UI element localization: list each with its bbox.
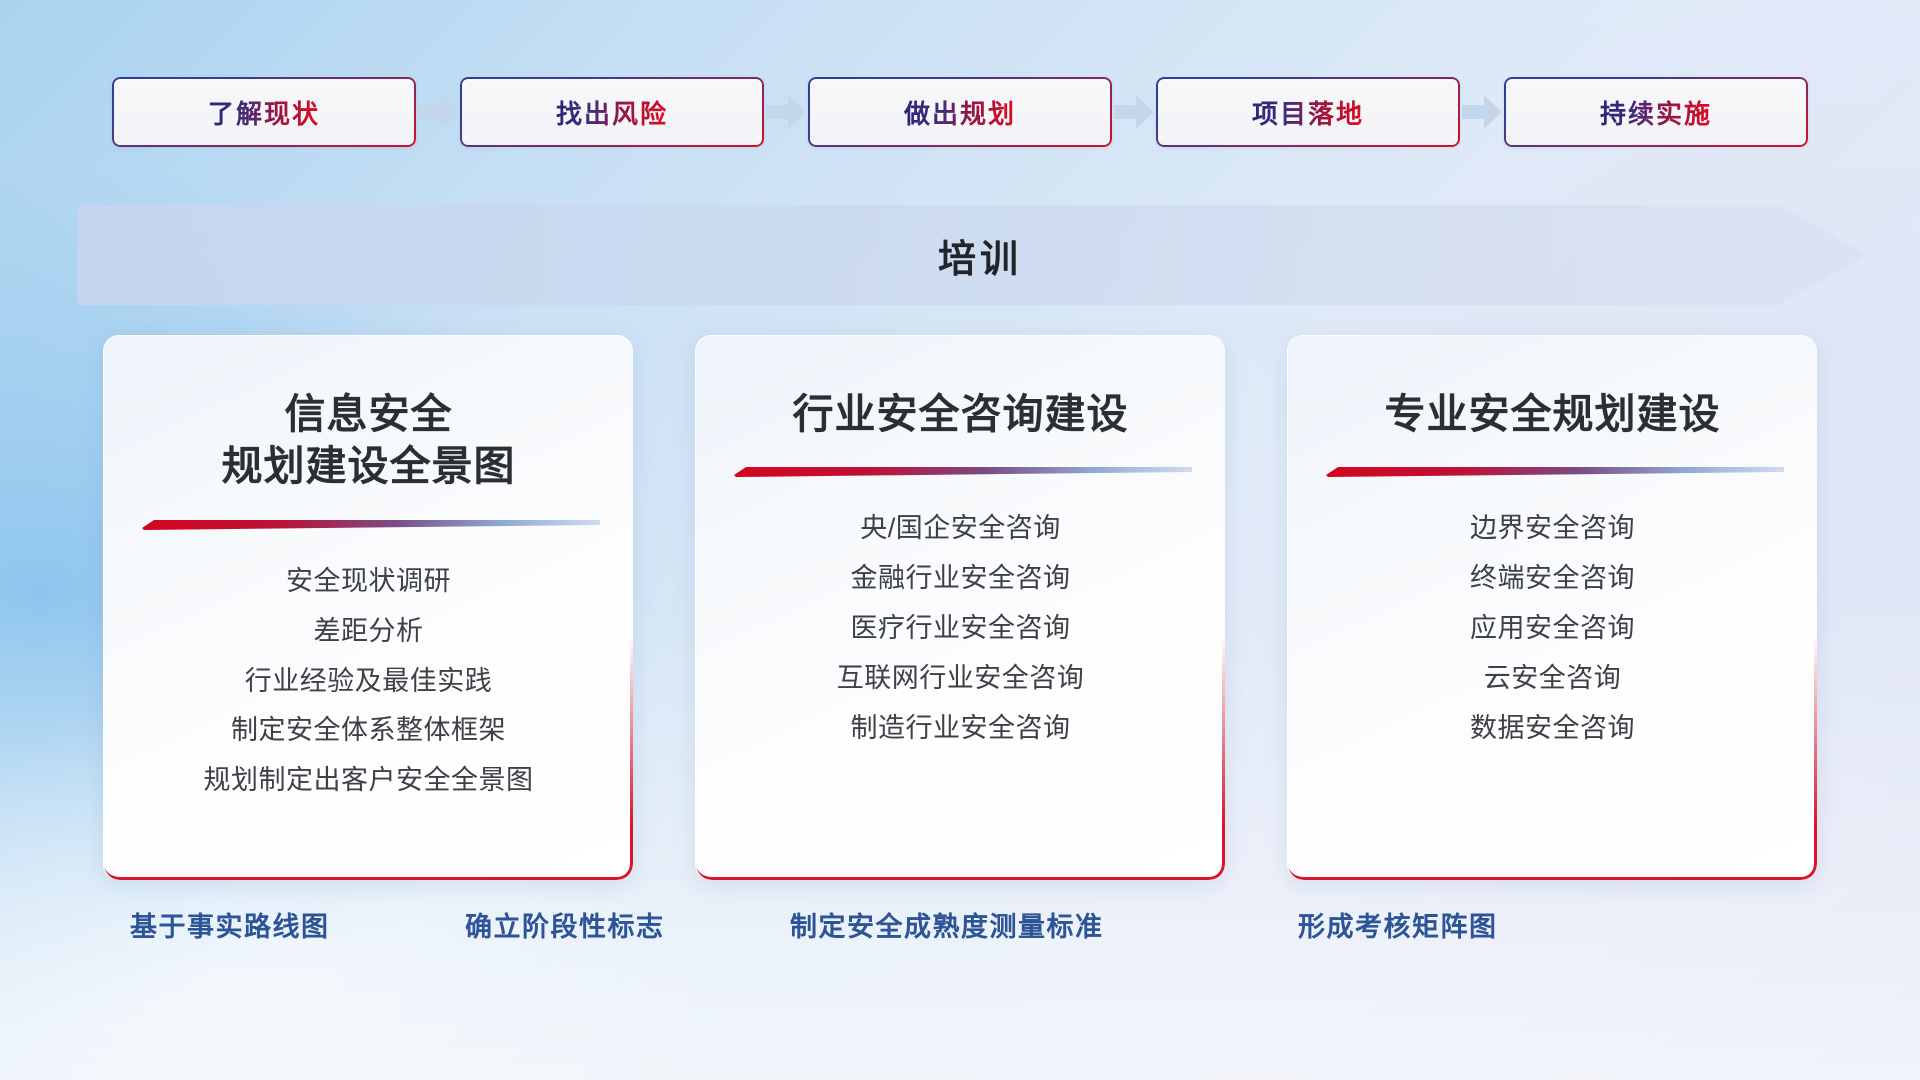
process-step-label: 持续实施 <box>1600 94 1712 131</box>
arrow-right-icon <box>1112 77 1156 147</box>
card-item-list: 安全现状调研 差距分析 行业经验及最佳实践 制定安全体系整体框架 规划制定出客户… <box>138 561 599 802</box>
caption-3: 制定安全成熟度测量标准 <box>790 905 1104 944</box>
process-step-1[interactable]: 了解现状 <box>112 77 416 147</box>
process-step-label: 找出风险 <box>556 94 668 131</box>
list-item: 应用安全咨询 <box>1470 608 1635 650</box>
service-card-3[interactable]: 专业安全规划建设 边界安全咨询 终端安全咨询 应用安全咨询 云安全 <box>1287 335 1817 880</box>
process-steps-row: 了解现状 找出风险 做出规划 项目落地 持续实施 <box>0 76 1920 148</box>
process-step-2[interactable]: 找出风险 <box>460 77 764 147</box>
process-step-label: 了解现状 <box>208 94 320 131</box>
list-item: 边界安全咨询 <box>1470 508 1635 550</box>
card-title: 专业安全规划建设 <box>1322 388 1783 440</box>
card-item-list: 边界安全咨询 终端安全咨询 应用安全咨询 云安全咨询 数据安全咨询 <box>1322 508 1783 749</box>
list-item: 央/国企安全咨询 <box>860 508 1061 550</box>
list-item: 互联网行业安全咨询 <box>837 658 1085 700</box>
card-title: 信息安全 规划建设全景图 <box>138 388 599 493</box>
list-item: 差距分析 <box>314 611 424 653</box>
card-divider <box>1322 464 1784 478</box>
list-item: 数据安全咨询 <box>1470 708 1635 750</box>
arrow-right-icon <box>1460 77 1504 147</box>
list-item: 终端安全咨询 <box>1470 558 1635 600</box>
arrow-right-icon <box>764 77 808 147</box>
caption-4: 形成考核矩阵图 <box>1298 905 1498 944</box>
list-item: 制造行业安全咨询 <box>851 708 1071 750</box>
list-item: 制定安全体系整体框架 <box>231 710 506 752</box>
process-step-4[interactable]: 项目落地 <box>1156 77 1460 147</box>
service-card-1[interactable]: 信息安全 规划建设全景图 安全现状调研 差距分析 行业经验及最佳实践 <box>103 335 633 880</box>
list-item: 行业经验及最佳实践 <box>245 661 493 703</box>
bottom-captions-row: 基于事实路线图 确立阶段性标志 制定安全成熟度测量标准 形成考核矩阵图 <box>0 905 1920 965</box>
training-banner: 培训 <box>78 205 1868 305</box>
training-banner-label: 培训 <box>78 205 1868 305</box>
list-item: 安全现状调研 <box>286 561 451 603</box>
caption-1: 基于事实路线图 <box>130 905 330 944</box>
process-step-5[interactable]: 持续实施 <box>1504 77 1808 147</box>
process-step-label: 做出规划 <box>904 94 1016 131</box>
card-title: 行业安全咨询建设 <box>730 388 1191 440</box>
list-item: 云安全咨询 <box>1484 658 1622 700</box>
list-item: 医疗行业安全咨询 <box>851 608 1071 650</box>
list-item: 金融行业安全咨询 <box>851 558 1071 600</box>
process-step-label: 项目落地 <box>1252 94 1364 131</box>
caption-2: 确立阶段性标志 <box>465 905 665 944</box>
arrow-right-icon <box>416 77 460 147</box>
card-divider <box>730 464 1192 478</box>
card-item-list: 央/国企安全咨询 金融行业安全咨询 医疗行业安全咨询 互联网行业安全咨询 制造行… <box>730 508 1191 749</box>
list-item: 规划制定出客户安全全景图 <box>204 760 534 802</box>
card-divider <box>138 517 600 531</box>
process-step-3[interactable]: 做出规划 <box>808 77 1112 147</box>
service-card-2[interactable]: 行业安全咨询建设 央/国企安全咨询 金融行业安全咨询 医疗行业安全咨询 <box>695 335 1225 880</box>
service-cards-row: 信息安全 规划建设全景图 安全现状调研 差距分析 行业经验及最佳实践 <box>0 335 1920 883</box>
